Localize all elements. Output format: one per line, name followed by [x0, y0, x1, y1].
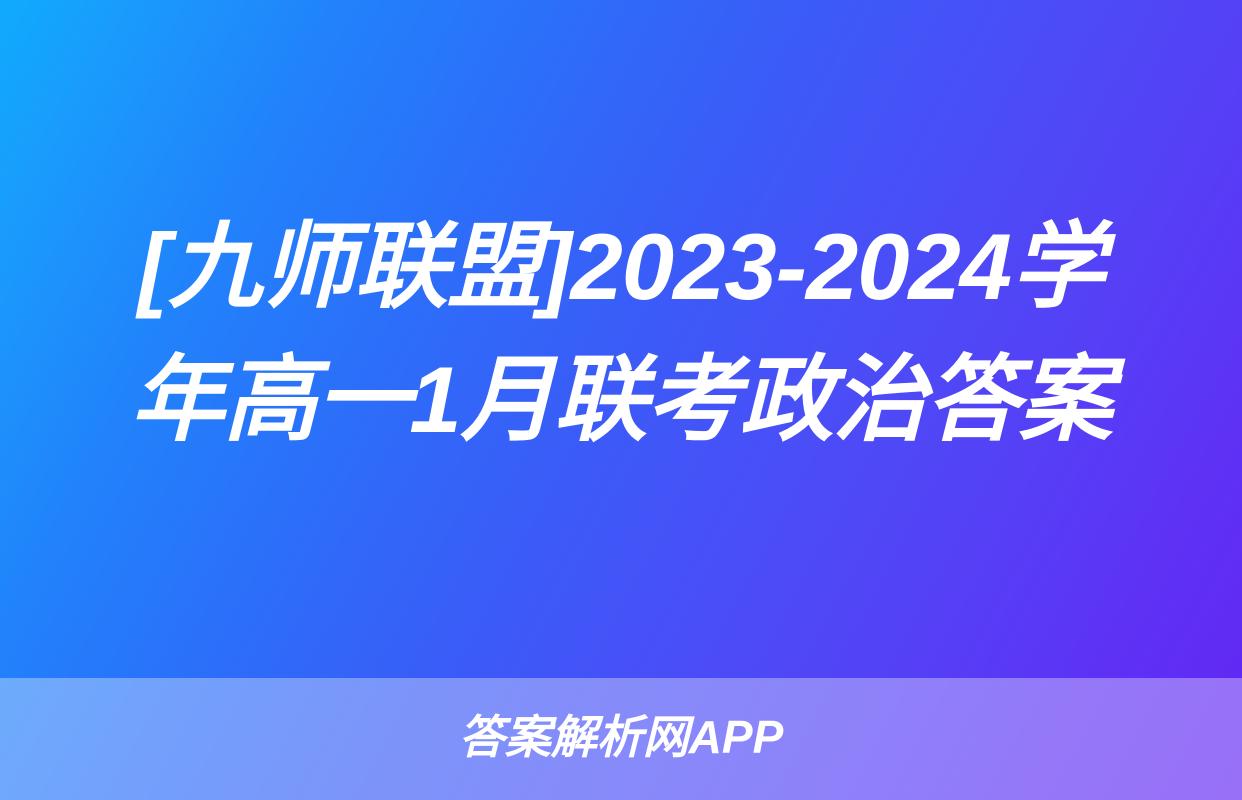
page-title: [九师联盟]2023-2024学年高一1月联考政治答案: [95, 200, 1147, 467]
poster-card: [九师联盟]2023-2024学年高一1月联考政治答案 答案解析网APP: [0, 0, 1242, 800]
app-brand-label: 答案解析网APP: [459, 714, 784, 760]
title-area: [九师联盟]2023-2024学年高一1月联考政治答案: [0, 0, 1242, 678]
footer-band: 答案解析网APP: [0, 678, 1242, 800]
